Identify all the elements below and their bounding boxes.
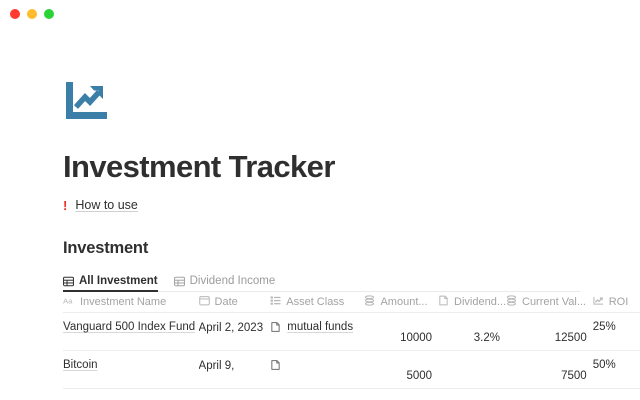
column-header-investment-name[interactable]: Aa Investment Name [63, 296, 199, 309]
cell-text: Vanguard 500 Index Fund [63, 321, 195, 333]
window-titlebar [0, 0, 640, 28]
cell-current-value[interactable]: 12500 [506, 321, 593, 344]
close-button[interactable] [10, 9, 20, 19]
cell-text: April 9, [199, 359, 265, 375]
investment-table: Aa Investment Name Date [63, 292, 640, 389]
table-header-row: Aa Investment Name Date [63, 292, 640, 313]
exclamation-icon: ! [63, 199, 67, 212]
column-header-asset-class[interactable]: Asset Class [270, 295, 364, 309]
traffic-lights [10, 9, 54, 19]
cell-asset-class[interactable]: mutual funds [270, 321, 364, 336]
column-header-label: Date [215, 296, 238, 308]
cell-text: Bitcoin [63, 359, 98, 371]
cell-date[interactable]: April 9, [199, 359, 271, 375]
list-icon [270, 295, 281, 309]
table-grid-icon [63, 276, 74, 287]
cell-text: 50% [593, 359, 616, 371]
table-grid-icon [174, 276, 185, 287]
cell-amount[interactable]: 10000 [364, 321, 438, 344]
text-aa-icon: Aa [63, 296, 75, 309]
cell-current-value[interactable]: 7500 [506, 359, 593, 382]
tab-label: Dividend Income [190, 275, 276, 287]
cell-amount[interactable]: 5000 [364, 359, 438, 382]
cell-roi[interactable]: 50% [593, 359, 640, 371]
how-to-use-link[interactable]: How to use [75, 198, 138, 212]
tab-dividend-income[interactable]: Dividend Income [174, 275, 276, 291]
cell-text: 7500 [561, 370, 587, 382]
cell-dividend[interactable] [438, 359, 506, 370]
column-header-dividend[interactable]: Dividend... [438, 295, 506, 309]
cell-text: 3.2% [474, 332, 500, 344]
table-row[interactable]: Bitcoin April 9, [63, 351, 640, 389]
svg-text:Aa: Aa [63, 296, 73, 305]
cell-investment-name[interactable]: Vanguard 500 Index Fund [63, 321, 199, 333]
column-header-date[interactable]: Date [199, 295, 271, 309]
cell-text: 25% [593, 321, 616, 333]
page-icon [270, 321, 281, 336]
column-header-amount[interactable]: Amount... [364, 295, 438, 309]
number-icon [364, 295, 375, 309]
column-header-label: Asset Class [286, 296, 344, 308]
maximize-button[interactable] [44, 9, 54, 19]
cell-text: mutual funds [287, 321, 353, 333]
formula-icon [593, 295, 604, 309]
number-icon [506, 295, 517, 309]
chart-growth-icon[interactable] [63, 80, 109, 122]
column-header-current-value[interactable]: Current Val... [506, 295, 593, 309]
cell-asset-class[interactable] [270, 359, 364, 374]
minimize-button[interactable] [27, 9, 37, 19]
how-to-use-callout[interactable]: ! How to use [63, 197, 640, 213]
cell-text: 12500 [555, 332, 587, 344]
cell-text: April 2, 2023 [199, 321, 265, 337]
table-row[interactable]: Vanguard 500 Index Fund April 2, 2023 mu… [63, 313, 640, 351]
calendar-icon [199, 295, 210, 309]
tab-all-investment[interactable]: All Investment [63, 275, 158, 291]
page-content: Investment Tracker ! How to use Investme… [0, 28, 640, 389]
page-title: Investment Tracker [63, 150, 640, 184]
cell-investment-name[interactable]: Bitcoin [63, 359, 199, 371]
cell-text: 10000 [400, 332, 432, 344]
column-header-label: Investment Name [80, 296, 166, 308]
cell-text: 5000 [406, 370, 432, 382]
page-icon [438, 295, 449, 309]
section-heading: Investment [63, 239, 640, 258]
page-scroll-area[interactable]: Investment Tracker ! How to use Investme… [0, 28, 640, 400]
app-window: Investment Tracker ! How to use Investme… [0, 0, 640, 400]
tab-label: All Investment [79, 275, 158, 287]
page-icon [270, 359, 281, 374]
cell-roi[interactable]: 25% [593, 321, 640, 333]
column-header-label: Amount... [380, 296, 427, 308]
database-view-tabs: All Investment Dividend Income [63, 270, 580, 292]
column-header-label: Dividend... [454, 296, 506, 308]
cell-date[interactable]: April 2, 2023 [199, 321, 271, 337]
column-header-label: ROI [609, 296, 629, 308]
column-header-label: Current Val... [522, 296, 586, 308]
column-header-roi[interactable]: ROI [593, 295, 640, 309]
cell-dividend[interactable]: 3.2% [438, 321, 506, 344]
